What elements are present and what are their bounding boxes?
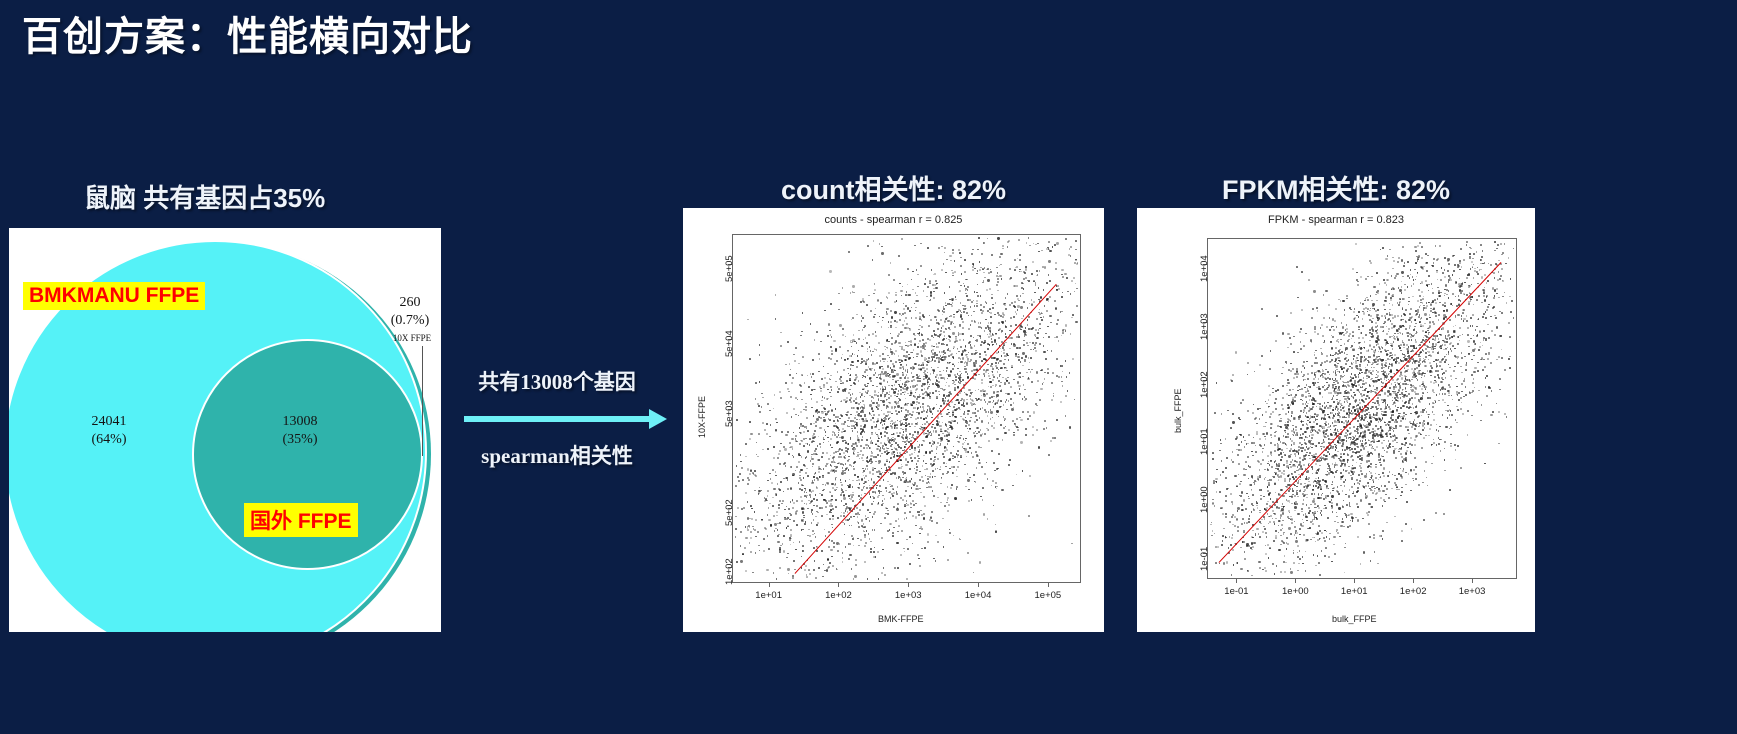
scatter-point — [1001, 367, 1003, 369]
scatter-point — [1356, 320, 1358, 322]
scatter-point — [836, 436, 838, 438]
scatter-point — [786, 412, 788, 414]
x-tick-label: 1e+03 — [886, 590, 930, 601]
scatter-point — [897, 567, 899, 569]
scatter-point — [1364, 359, 1366, 361]
scatter-point — [857, 408, 859, 410]
scatter-point — [970, 346, 972, 348]
scatter-point — [856, 425, 858, 427]
scatter-point — [854, 421, 856, 423]
scatter-point — [1010, 317, 1012, 319]
scatter-point — [1348, 416, 1350, 418]
scatter-point — [848, 495, 850, 497]
scatter-point — [1405, 309, 1407, 311]
scatter-point — [796, 500, 798, 502]
scatter-point — [958, 441, 960, 443]
scatter-point — [905, 458, 907, 460]
scatter-point — [882, 368, 884, 370]
scatter-point — [821, 405, 823, 407]
scatter-point — [915, 488, 917, 490]
scatter-point — [883, 479, 885, 481]
scatter-point — [909, 536, 911, 538]
scatter-point — [947, 499, 949, 501]
scatter-point — [952, 472, 954, 474]
scatter-point — [994, 340, 996, 342]
scatter-point — [933, 460, 935, 462]
scatter-point — [1368, 511, 1370, 513]
scatter-point — [1290, 461, 1292, 463]
scatter-point — [895, 410, 897, 412]
scatter-point — [1398, 390, 1400, 392]
scatter-point — [1008, 464, 1010, 466]
scatter-point — [954, 389, 956, 391]
scatter-point — [843, 452, 845, 454]
scatter-point — [979, 356, 981, 358]
scatter-point — [844, 388, 846, 390]
scatter-point — [1301, 394, 1303, 396]
scatter-point — [914, 449, 916, 451]
scatter-point — [1293, 443, 1295, 445]
scatter-point — [906, 323, 908, 325]
scatter-point — [1031, 304, 1033, 306]
scatter-point — [1039, 270, 1041, 272]
scatter-point — [937, 346, 939, 348]
scatter-point — [794, 569, 796, 571]
scatter-point — [829, 562, 831, 564]
scatter-point — [884, 418, 886, 420]
scatter-point — [813, 569, 815, 571]
scatter-point — [752, 472, 754, 474]
scatter-point — [999, 256, 1001, 258]
scatter-point — [890, 310, 892, 312]
scatter-point — [887, 530, 889, 532]
scatter-point — [799, 443, 801, 445]
scatter-point — [796, 466, 798, 468]
scatter-point — [1492, 411, 1494, 413]
scatter-point — [809, 438, 811, 440]
scatter-point — [881, 252, 883, 254]
scatter-point — [891, 406, 893, 408]
scatter-point — [1469, 253, 1471, 255]
scatter-point — [1400, 344, 1402, 346]
scatter-point — [1369, 344, 1371, 346]
scatter-point — [792, 475, 794, 477]
scatter-point — [866, 465, 868, 467]
scatter-point — [1010, 277, 1012, 279]
scatter-point — [803, 445, 805, 447]
scatter-point — [967, 413, 969, 415]
scatter-point — [796, 510, 798, 512]
scatter-point — [1301, 309, 1303, 311]
scatter-point — [932, 284, 934, 286]
scatter-point — [915, 516, 917, 518]
scatter-point — [949, 350, 951, 352]
scatter-point — [801, 519, 803, 521]
scatter-point — [1045, 358, 1047, 360]
scatter-point — [826, 382, 828, 384]
scatter-point — [975, 415, 977, 417]
scatter-point — [1072, 314, 1074, 316]
scatter-point — [1274, 450, 1276, 452]
scatter-point — [1499, 278, 1501, 280]
scatter-point — [1056, 242, 1058, 244]
scatter-point — [1010, 386, 1012, 388]
scatter-point — [966, 312, 968, 314]
scatter-point — [829, 392, 831, 394]
scatter-point — [977, 410, 979, 412]
scatter-point — [1020, 306, 1022, 308]
scatter-point — [1432, 406, 1434, 408]
scatter-point — [1013, 434, 1015, 436]
scatter-point — [1075, 321, 1077, 323]
scatter-point — [874, 511, 876, 513]
scatter-point — [902, 374, 904, 376]
scatter-point — [935, 390, 937, 392]
scatter-point — [1035, 284, 1037, 286]
scatter-point — [853, 468, 855, 470]
scatter-point — [973, 474, 975, 476]
scatter-point — [927, 387, 929, 389]
x-axis-label-fpkm: bulk_FFPE — [1332, 614, 1377, 624]
scatter-point — [878, 414, 880, 416]
scatter-point — [973, 432, 975, 434]
scatter-point — [943, 308, 945, 310]
scatter-point — [822, 476, 824, 478]
scatter-point — [1407, 429, 1409, 431]
scatter-point — [1316, 423, 1318, 425]
scatter-point — [906, 440, 908, 442]
scatter-point — [1454, 444, 1456, 446]
scatter-point — [1467, 410, 1469, 412]
x-tick-mark — [838, 583, 839, 587]
scatter-point — [842, 561, 844, 563]
scatter-point — [1364, 389, 1366, 391]
scatter-point — [1388, 421, 1390, 423]
scatter-point — [1022, 352, 1024, 354]
scatter-point — [927, 247, 929, 249]
scatter-point — [759, 411, 761, 413]
scatter-point — [961, 318, 963, 320]
scatter-point — [905, 359, 907, 361]
scatter-point — [1290, 571, 1292, 573]
scatter-point — [854, 461, 856, 463]
scatter-point — [1234, 525, 1236, 527]
scatter-point — [754, 474, 756, 476]
scatter-point — [888, 452, 890, 454]
scatter-point — [1016, 266, 1018, 268]
scatter-point — [979, 561, 981, 563]
scatter-point — [909, 345, 911, 347]
scatter-point — [801, 399, 803, 401]
scatter-point — [898, 525, 900, 527]
scatter-point — [1219, 450, 1221, 452]
scatter-point — [1000, 253, 1002, 255]
scatter-point — [923, 378, 925, 380]
scatter-point — [858, 545, 860, 547]
scatter-point — [952, 363, 954, 365]
scatter-point — [998, 322, 1000, 324]
scatter-point — [855, 564, 857, 566]
scatter-point — [1001, 278, 1003, 280]
scatter-point — [1317, 432, 1319, 434]
scatter-point — [966, 362, 968, 364]
scatter-point — [788, 391, 790, 393]
scatter-point — [806, 417, 808, 419]
scatter-point — [964, 259, 966, 261]
scatter-point — [892, 352, 894, 354]
scatter-point — [985, 354, 987, 356]
scatter-point — [1002, 316, 1004, 318]
scatter-point — [854, 417, 856, 419]
scatter-point — [944, 247, 946, 249]
scatter-point — [959, 437, 961, 439]
scatter-point — [996, 410, 998, 412]
scatter-point — [871, 452, 873, 454]
scatter-point — [1003, 349, 1005, 351]
scatter-point — [864, 414, 866, 416]
scatter-point — [862, 411, 864, 413]
scatter-point — [862, 428, 864, 430]
scatter-point — [1457, 445, 1459, 447]
scatter-point — [1074, 262, 1076, 264]
scatter-point — [949, 362, 951, 364]
scatter-point — [750, 531, 752, 533]
scatter-point — [831, 505, 833, 507]
scatter-point — [832, 487, 834, 489]
scatter-panel-count: counts - spearman r = 0.825 10X-FFPE BMK… — [683, 208, 1104, 632]
scatter-point — [1265, 553, 1267, 555]
scatter-point — [1343, 481, 1345, 483]
scatter-point — [1376, 389, 1378, 391]
scatter-point — [998, 453, 1000, 455]
scatter-point — [779, 500, 781, 502]
scatter-point — [942, 473, 944, 475]
scatter-point — [841, 484, 843, 486]
scatter-point — [938, 310, 940, 312]
scatter-point — [893, 369, 895, 371]
scatter-point — [926, 468, 928, 470]
scatter-point — [772, 505, 774, 507]
scatter-point — [848, 417, 850, 419]
scatter-point — [830, 470, 832, 472]
scatter-point — [877, 408, 879, 410]
scatter-point — [1003, 427, 1005, 429]
scatter-point — [763, 550, 765, 552]
x-tick-mark — [908, 583, 909, 587]
scatter-point — [834, 484, 836, 486]
scatter-point — [1036, 318, 1038, 320]
scatter-point — [1441, 267, 1443, 269]
scatter-point — [979, 269, 981, 271]
scatter-point — [1338, 493, 1340, 495]
scatter-point — [847, 358, 849, 360]
scatter-point — [901, 346, 903, 348]
scatter-point — [1025, 428, 1027, 430]
scatter-point — [1042, 266, 1044, 268]
scatter-point — [980, 399, 982, 401]
scatter-point — [802, 356, 804, 358]
scatter-point — [826, 413, 828, 415]
scatter-point — [850, 494, 852, 496]
scatter-point — [843, 512, 845, 514]
scatter-point — [1459, 262, 1461, 264]
scatter-point — [866, 487, 868, 489]
scatter-point — [1056, 358, 1058, 360]
x-tick-mark — [1048, 583, 1049, 587]
scatter-point — [770, 424, 772, 426]
scatter-point — [1456, 422, 1458, 424]
scatter-point — [776, 494, 778, 496]
scatter-point — [880, 383, 882, 385]
scatter-point — [967, 376, 969, 378]
scatter-point — [815, 421, 817, 423]
scatter-point — [1297, 513, 1299, 515]
scatter-point — [1326, 326, 1328, 328]
scatter-point — [995, 365, 997, 367]
scatter-point — [890, 262, 892, 264]
scatter-point — [901, 238, 903, 240]
scatter-point — [918, 333, 920, 335]
scatter-point — [902, 471, 904, 473]
scatter-point — [805, 403, 807, 405]
scatter-point — [856, 419, 858, 421]
scatter-point — [819, 468, 821, 470]
scatter-point — [955, 409, 957, 411]
scatter-point — [1245, 461, 1247, 463]
scatter-point — [783, 550, 785, 552]
scatter-point — [884, 431, 886, 433]
scatter-point — [1051, 399, 1053, 401]
y-tick-label: 1e+02 — [724, 559, 735, 586]
scatter-point — [771, 482, 773, 484]
scatter-point — [1049, 280, 1051, 282]
scatter-point — [899, 313, 901, 315]
scatter-point — [923, 513, 925, 515]
y-tick-label: 5e+04 — [724, 330, 735, 357]
scatter-point — [990, 271, 992, 273]
scatter-point — [905, 419, 907, 421]
scatter-point — [916, 469, 918, 471]
scatter-point — [969, 447, 971, 449]
scatter-point — [950, 452, 952, 454]
scatter-point — [862, 503, 864, 505]
scatter-point — [815, 577, 817, 579]
scatter-point — [1058, 376, 1060, 378]
scatter-point — [793, 408, 795, 410]
scatter-point — [801, 500, 803, 502]
scatter-point — [1018, 334, 1020, 336]
scatter-point — [819, 358, 821, 360]
scatter-point — [754, 529, 756, 531]
scatter-point — [828, 357, 830, 359]
scatter-point — [992, 334, 994, 336]
scatter-point — [924, 370, 926, 372]
scatter-point — [829, 539, 831, 541]
scatter-point — [919, 316, 921, 318]
scatter-point — [847, 350, 849, 352]
scatter-point — [960, 265, 962, 267]
scatter-point — [892, 532, 894, 534]
scatter-point — [1354, 308, 1356, 310]
scatter-point — [959, 379, 961, 381]
scatter-point — [928, 394, 930, 396]
x-tick-label: 1e+02 — [816, 590, 860, 601]
scatter-point — [901, 348, 903, 350]
scatter-point — [924, 349, 926, 351]
scatter-point — [1076, 305, 1078, 307]
scatter-point — [908, 294, 910, 296]
scatter-point — [821, 550, 823, 552]
scatter-point — [931, 450, 933, 452]
scatter-point — [980, 447, 982, 449]
scatter-point — [895, 294, 897, 296]
scatter-point — [793, 502, 795, 504]
scatter-point — [850, 516, 852, 518]
scatter-point — [995, 531, 997, 533]
scatter-point — [1016, 295, 1018, 297]
scatter-point — [952, 332, 954, 334]
scatter-point — [937, 410, 939, 412]
scatter-point — [943, 394, 945, 396]
scatter-point — [990, 386, 992, 388]
scatter-point — [830, 386, 832, 388]
scatter-point — [907, 414, 909, 416]
scatter-point — [821, 507, 823, 509]
scatter-point — [842, 557, 844, 559]
scatter-point — [785, 477, 787, 479]
scatter-point — [1398, 257, 1400, 259]
scatter-point — [1064, 273, 1066, 275]
scatter-point — [993, 427, 995, 429]
scatter-point — [881, 504, 883, 506]
scatter-point — [945, 328, 947, 330]
scatter-point — [916, 300, 918, 302]
scatter-point — [932, 392, 934, 394]
scatter-point — [745, 537, 747, 539]
scatter-point — [911, 423, 913, 425]
scatter-point — [956, 311, 958, 313]
scatter-point — [989, 288, 991, 290]
scatter-point — [888, 397, 890, 399]
scatter-point — [744, 547, 746, 549]
scatter-point — [840, 515, 842, 517]
scatter-point — [1284, 480, 1286, 482]
scatter-point — [1410, 308, 1412, 310]
scatter-point — [1004, 432, 1006, 434]
scatter-point — [924, 547, 926, 549]
scatter-point — [931, 520, 933, 522]
scatter-point — [941, 439, 943, 441]
scatter-point — [781, 431, 783, 433]
scatter-point — [955, 336, 957, 338]
scatter-point — [909, 563, 911, 565]
scatter-point — [1034, 344, 1036, 346]
scatter-point — [907, 377, 909, 379]
scatter-point — [944, 400, 946, 402]
scatter-point — [1337, 357, 1339, 359]
scatter-point — [975, 442, 977, 444]
scatter-point — [936, 420, 938, 422]
scatter-point — [1340, 409, 1342, 411]
scatter-point — [779, 489, 781, 491]
plot-title-count: counts - spearman r = 0.825 — [683, 214, 1104, 226]
scatter-point — [1508, 322, 1510, 324]
scatter-point — [822, 452, 824, 454]
scatter-point — [872, 442, 874, 444]
scatter-point — [954, 326, 956, 328]
scatter-point — [946, 449, 948, 451]
scatter-point — [785, 382, 787, 384]
